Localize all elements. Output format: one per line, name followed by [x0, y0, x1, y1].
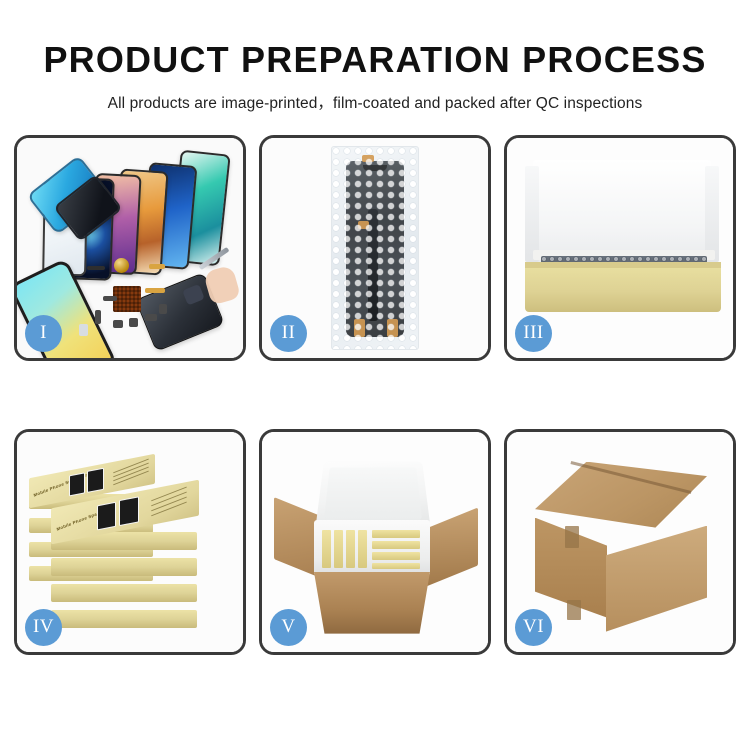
box-product-image-icon: [119, 496, 139, 526]
step-card-4[interactable]: Mobile Phone Spare Parts: [14, 429, 246, 655]
box-product-image-icon: [97, 501, 116, 530]
page-header: PRODUCT PREPARATION PROCESS All products…: [0, 0, 750, 113]
stacked-box-icon: [51, 558, 197, 576]
yellow-box-item-icon: [372, 552, 420, 560]
step-card-2[interactable]: II: [259, 135, 491, 361]
flex-cable-part-icon: [145, 288, 165, 293]
box-product-image-icon: [87, 467, 104, 492]
page-title: PRODUCT PREPARATION PROCESS: [0, 40, 750, 80]
step-card-6[interactable]: VI: [504, 429, 736, 655]
flex-cable-part-icon: [149, 264, 165, 269]
carton-tape-icon: [567, 600, 581, 620]
small-part-icon: [159, 304, 167, 314]
tape-icon: [387, 319, 398, 337]
tape-icon: [362, 155, 374, 162]
carton-body-icon: [306, 572, 438, 634]
foam-cooler-box-icon: [314, 520, 430, 576]
tape-icon: [358, 221, 369, 229]
flex-cable-icon: [368, 209, 378, 321]
step-badge-4: IV: [25, 609, 62, 646]
process-steps-grid: I II: [14, 135, 736, 655]
small-part-icon: [145, 314, 157, 321]
step-badge-6: VI: [515, 609, 552, 646]
step-badge-3: III: [515, 315, 552, 352]
stacked-box-icon: [51, 610, 197, 628]
small-part-icon: [129, 318, 138, 327]
carton-flap-right-icon: [426, 507, 478, 586]
step-badge-1: I: [25, 315, 62, 352]
yellow-box-item-icon: [334, 530, 343, 568]
step-card-1[interactable]: I: [14, 135, 246, 361]
stacked-box-icon: [51, 584, 197, 602]
small-part-icon: [103, 296, 117, 301]
product-preparation-process-page: PRODUCT PREPARATION PROCESS All products…: [0, 0, 750, 750]
small-part-icon: [87, 266, 105, 270]
box-product-image-icon: [69, 472, 85, 496]
small-part-icon: [95, 310, 101, 324]
yellow-box-item-icon: [358, 530, 367, 568]
tape-icon: [354, 319, 365, 337]
camera-lens-part-icon: [114, 258, 129, 273]
yellow-box-item-icon: [322, 530, 331, 568]
small-part-icon: [113, 320, 123, 328]
bubble-wrap-bag-icon: [331, 146, 419, 350]
foam-lid-open-icon: [316, 461, 431, 527]
carton-top-face-icon: [535, 462, 707, 528]
page-subtitle: All products are image-printed，film-coat…: [0, 91, 750, 113]
carton-right-face-icon: [606, 526, 707, 632]
step-badge-5: V: [270, 609, 307, 646]
sim-tray-part-icon: [79, 324, 88, 336]
circuit-board-part-icon: [113, 286, 141, 312]
step-card-3[interactable]: III: [504, 135, 736, 361]
yellow-box-item-icon: [372, 563, 420, 569]
carton-tape-icon: [565, 526, 579, 548]
yellow-box-item-icon: [346, 530, 355, 568]
yellow-box-item-icon: [372, 530, 420, 538]
step-card-5[interactable]: V: [259, 429, 491, 655]
yellow-box-base-icon: [525, 266, 721, 312]
yellow-box-item-icon: [372, 541, 420, 549]
step-badge-2: II: [270, 315, 307, 352]
